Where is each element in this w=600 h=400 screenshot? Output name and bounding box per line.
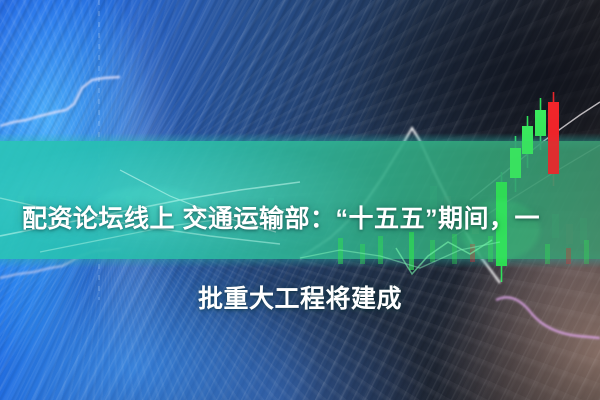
banner-image: 配资论坛线上 交通运输部：“十五五”期间，一 批重大工程将建成 bbox=[0, 0, 600, 400]
headline-line-2: 批重大工程将建成 bbox=[22, 279, 578, 319]
headline-line-1: 配资论坛线上 交通运输部：“十五五”期间，一 bbox=[22, 199, 578, 239]
headline: 配资论坛线上 交通运输部：“十五五”期间，一 批重大工程将建成 bbox=[0, 159, 600, 359]
